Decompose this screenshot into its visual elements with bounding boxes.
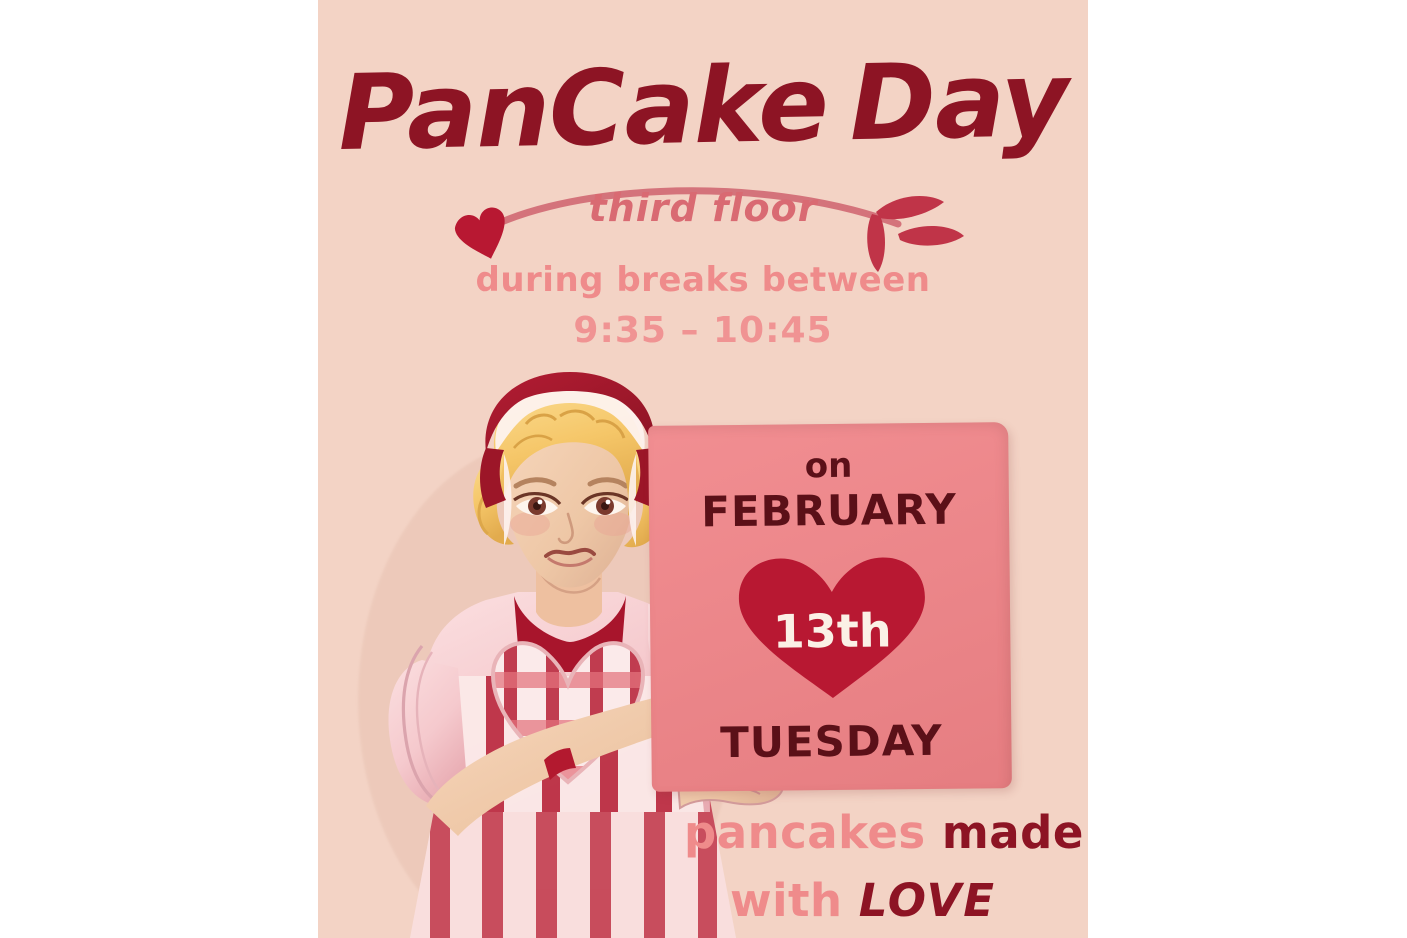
location-subtitle: third floor (318, 186, 1088, 230)
wristband (544, 748, 576, 780)
eyebrow-right (590, 480, 626, 486)
mouth (546, 550, 594, 556)
title-word-pancake: PanCake (337, 43, 829, 174)
title-word-day: Day (848, 38, 1068, 164)
tagline-love: LOVE (859, 874, 996, 927)
sign-weekday: TUESDAY (651, 715, 1011, 768)
face (504, 406, 636, 588)
tagline-line-2: with LOVE (730, 874, 996, 927)
left-sleeve (388, 660, 468, 806)
time-range: 9:35 – 10:45 (318, 310, 1088, 351)
sign-prefix: on (648, 444, 1008, 488)
page-title: PanCakeDay (318, 45, 1088, 169)
inner-shirt (514, 596, 626, 672)
neck (536, 556, 602, 627)
apron-skirt-stripes (486, 676, 672, 812)
blush-left (510, 512, 550, 536)
date-sign-card[interactable]: on FEBRUARY 13th TUESDAY (648, 422, 1012, 792)
eye-right (582, 494, 628, 516)
sign-content: on FEBRUARY 13th TUESDAY (648, 422, 1012, 792)
eyebrow-left (516, 480, 554, 486)
eye-left (514, 494, 560, 516)
headband (485, 372, 654, 452)
headband-left-tail (480, 448, 506, 508)
tagline-with: with (730, 874, 843, 927)
bonnet-lining (495, 382, 644, 452)
sign-day-number: 13th (729, 603, 936, 659)
tagline-pancakes: pancakes (684, 806, 926, 859)
hair (473, 385, 669, 548)
blush-right (594, 512, 634, 536)
sign-month: FEBRUARY (649, 484, 1009, 537)
tagline-line-1: pancakes made (684, 806, 1084, 859)
tagline-made: made (942, 806, 1084, 859)
nose (559, 514, 573, 543)
pancake-day-poster: on FEBRUARY 13th TUESDAY PanCakeDay (318, 0, 1088, 938)
date-heart: 13th (728, 551, 936, 703)
plaid-heart-bib (478, 625, 658, 800)
schedule-subtitle: during breaks between (318, 260, 1088, 300)
sleeve-ruffle (403, 646, 446, 806)
screenshot-canvas: on FEBRUARY 13th TUESDAY PanCakeDay (0, 0, 1407, 938)
